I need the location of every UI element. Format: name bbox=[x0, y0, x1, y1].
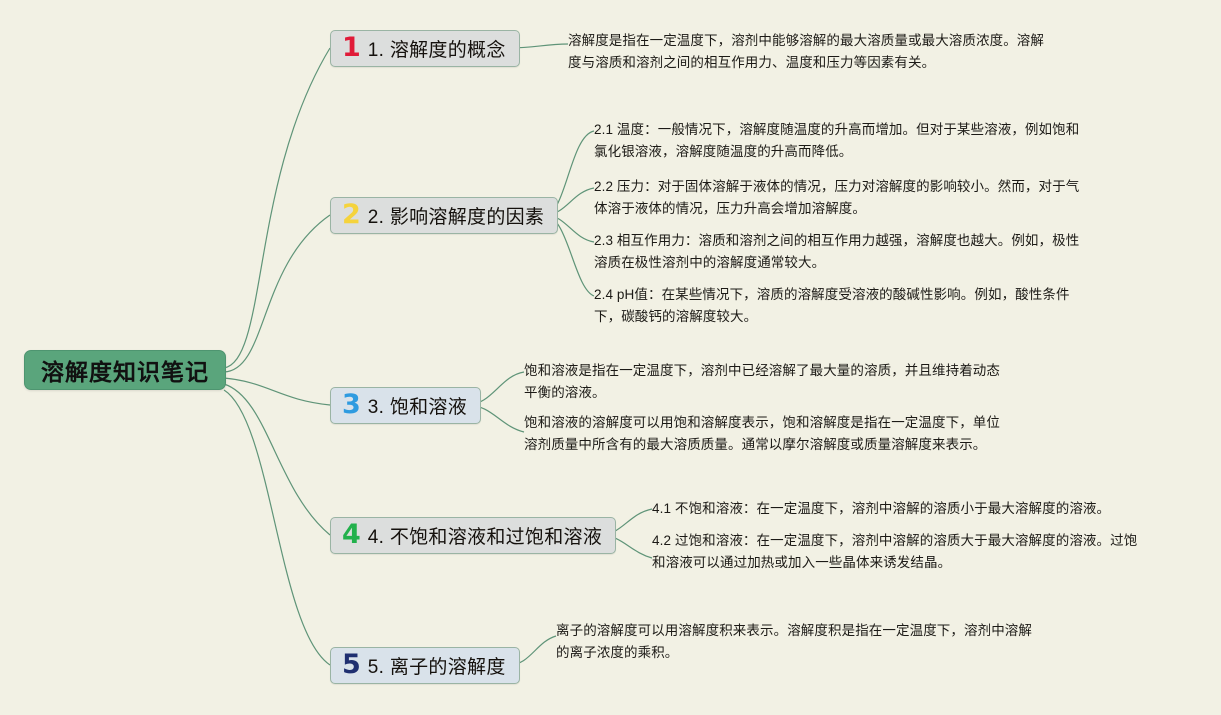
leaf-line: 度与溶质和溶剂之间的相互作用力、温度和压力等因素有关。 bbox=[568, 52, 1088, 74]
branch-label-4: 4. 不饱和溶液和过饱和溶液 bbox=[368, 522, 602, 549]
leaf-2-4: 2.4 pH值：在某些情况下，溶质的溶解度受溶液的酸碱性影响。例如，酸性条件 下… bbox=[594, 284, 1146, 328]
branch-number-2: 2 bbox=[342, 201, 361, 228]
leaf-3-1: 饱和溶液是指在一定温度下，溶剂中已经溶解了最大量的溶质，并且维持着动态 平衡的溶… bbox=[524, 360, 1044, 404]
leaf-line: 溶剂质量中所含有的最大溶质质量。通常以摩尔溶解度或质量溶解度来表示。 bbox=[524, 434, 1044, 456]
branch-number-4: 4 bbox=[342, 521, 361, 548]
leaf-3-2: 饱和溶液的溶解度可以用饱和溶解度表示，饱和溶解度是指在一定温度下，单位 溶剂质量… bbox=[524, 412, 1044, 456]
leaf-line: 氯化银溶液，溶解度随温度的升高而降低。 bbox=[594, 141, 1146, 163]
leaf-line: 体溶于液体的情况，压力升高会增加溶解度。 bbox=[594, 198, 1146, 220]
root-node-label: 溶解度知识笔记 bbox=[41, 353, 209, 387]
leaf-line: 4.1 不饱和溶液：在一定温度下，溶剂中溶解的溶质小于最大溶解度的溶液。 bbox=[652, 498, 1144, 520]
branch-node-1[interactable]: 1 1. 溶解度的概念 bbox=[330, 30, 520, 67]
root-node[interactable]: 溶解度知识笔记 bbox=[24, 350, 226, 390]
branch-number-5: 5 bbox=[342, 651, 361, 678]
leaf-4-1: 4.1 不饱和溶液：在一定温度下，溶剂中溶解的溶质小于最大溶解度的溶液。 bbox=[652, 498, 1144, 520]
leaf-1-1: 溶解度是指在一定温度下，溶剂中能够溶解的最大溶质量或最大溶质浓度。溶解 度与溶质… bbox=[568, 30, 1088, 74]
branch-label-1: 1. 溶解度的概念 bbox=[368, 35, 506, 62]
branch-label-3: 3. 饱和溶液 bbox=[368, 392, 467, 419]
leaf-2-2: 2.2 压力：对于固体溶解于液体的情况，压力对溶解度的影响较小。然而，对于气 体… bbox=[594, 176, 1146, 220]
branch-node-5[interactable]: 5 5. 离子的溶解度 bbox=[330, 647, 520, 684]
leaf-line: 下，碳酸钙的溶解度较大。 bbox=[594, 306, 1146, 328]
branch-number-1: 1 bbox=[342, 34, 361, 61]
branch-node-4[interactable]: 4 4. 不饱和溶液和过饱和溶液 bbox=[330, 517, 616, 554]
leaf-line: 离子的溶解度可以用溶解度积来表示。溶解度积是指在一定温度下，溶剂中溶解 bbox=[556, 620, 1076, 642]
leaf-line: 4.2 过饱和溶液：在一定温度下，溶剂中溶解的溶质大于最大溶解度的溶液。过饱 bbox=[652, 530, 1144, 552]
leaf-line: 2.1 温度：一般情况下，溶解度随温度的升高而增加。但对于某些溶液，例如饱和 bbox=[594, 119, 1146, 141]
leaf-line: 2.4 pH值：在某些情况下，溶质的溶解度受溶液的酸碱性影响。例如，酸性条件 bbox=[594, 284, 1146, 306]
branch-node-2[interactable]: 2 2. 影响溶解度的因素 bbox=[330, 197, 558, 234]
leaf-line: 2.3 相互作用力：溶质和溶剂之间的相互作用力越强，溶解度也越大。例如，极性 bbox=[594, 230, 1146, 252]
branch-number-3: 3 bbox=[342, 391, 361, 418]
leaf-2-1: 2.1 温度：一般情况下，溶解度随温度的升高而增加。但对于某些溶液，例如饱和 氯… bbox=[594, 119, 1146, 163]
leaf-line: 饱和溶液的溶解度可以用饱和溶解度表示，饱和溶解度是指在一定温度下，单位 bbox=[524, 412, 1044, 434]
leaf-4-2: 4.2 过饱和溶液：在一定温度下，溶剂中溶解的溶质大于最大溶解度的溶液。过饱 和… bbox=[652, 530, 1144, 574]
leaf-line: 的离子浓度的乘积。 bbox=[556, 642, 1076, 664]
leaf-5-1: 离子的溶解度可以用溶解度积来表示。溶解度积是指在一定温度下，溶剂中溶解 的离子浓… bbox=[556, 620, 1076, 664]
leaf-2-3: 2.3 相互作用力：溶质和溶剂之间的相互作用力越强，溶解度也越大。例如，极性 溶… bbox=[594, 230, 1146, 274]
leaf-line: 溶解度是指在一定温度下，溶剂中能够溶解的最大溶质量或最大溶质浓度。溶解 bbox=[568, 30, 1088, 52]
leaf-line: 平衡的溶液。 bbox=[524, 382, 1044, 404]
leaf-line: 饱和溶液是指在一定温度下，溶剂中已经溶解了最大量的溶质，并且维持着动态 bbox=[524, 360, 1044, 382]
branch-label-5: 5. 离子的溶解度 bbox=[368, 652, 506, 679]
leaf-line: 2.2 压力：对于固体溶解于液体的情况，压力对溶解度的影响较小。然而，对于气 bbox=[594, 176, 1146, 198]
mindmap-canvas: 溶解度知识笔记 1 1. 溶解度的概念 溶解度是指在一定温度下，溶剂中能够溶解的… bbox=[0, 0, 1221, 715]
branch-node-3[interactable]: 3 3. 饱和溶液 bbox=[330, 387, 481, 424]
branch-label-2: 2. 影响溶解度的因素 bbox=[368, 202, 544, 229]
leaf-line: 溶质在极性溶剂中的溶解度通常较大。 bbox=[594, 252, 1146, 274]
leaf-line: 和溶液可以通过加热或加入一些晶体来诱发结晶。 bbox=[652, 552, 1144, 574]
